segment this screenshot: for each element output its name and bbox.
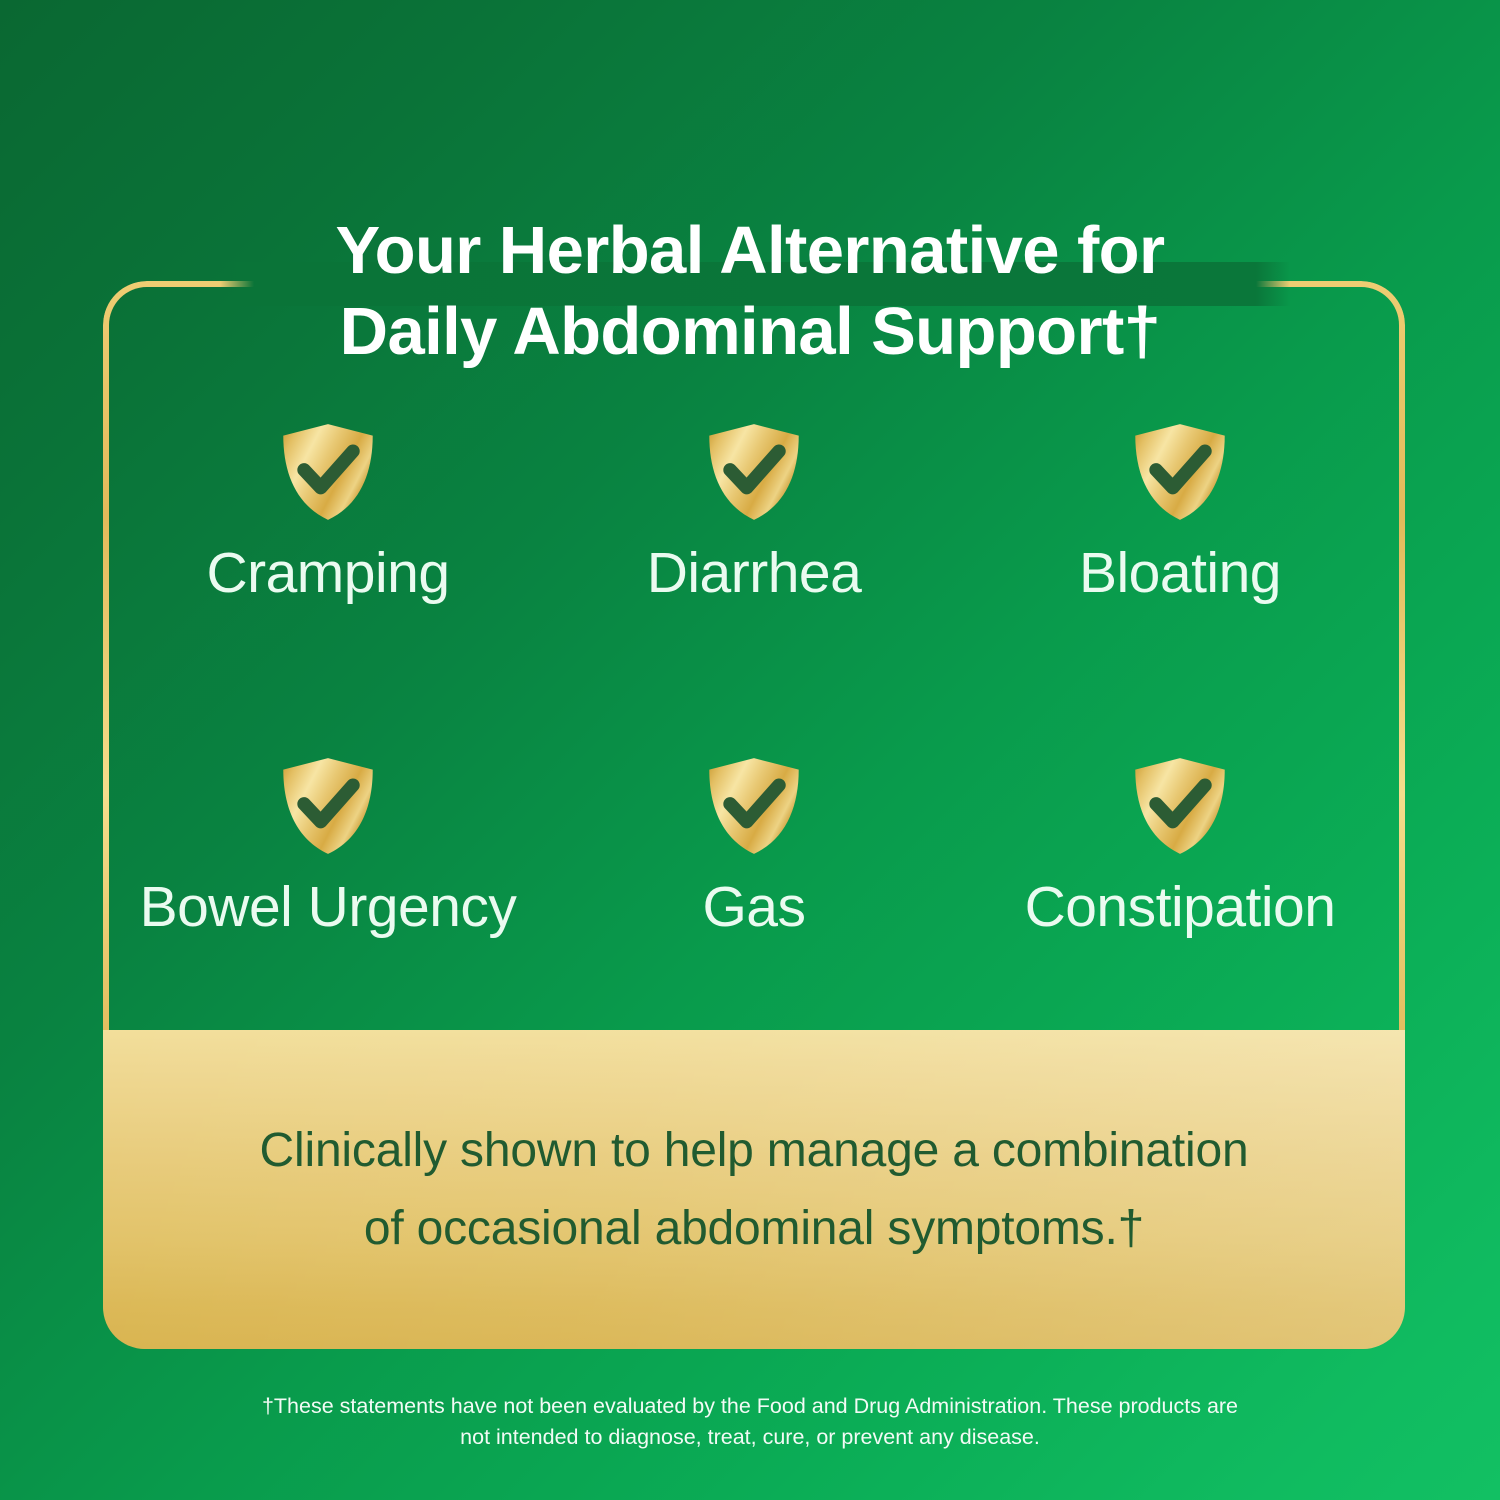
symptom-label: Cramping	[206, 544, 449, 604]
gold-shield-check-icon	[1128, 420, 1232, 524]
gold-shield-check-icon	[702, 754, 806, 858]
symptom-label: Constipation	[1025, 878, 1336, 938]
symptom-item-bloating: Bloating	[967, 420, 1393, 604]
gold-shield-check-icon	[702, 420, 806, 524]
symptom-label: Diarrhea	[647, 544, 862, 604]
clinical-claim-text: Clinically shown to help manage a combin…	[190, 1112, 1319, 1268]
promo-graphic-canvas: Your Herbal Alternative for Daily Abdomi…	[0, 0, 1500, 1500]
clinical-claim-banner: Clinically shown to help manage a combin…	[103, 1030, 1405, 1349]
fda-disclaimer-text: †These statements have not been evaluate…	[262, 1394, 1238, 1449]
symptom-label: Bloating	[1079, 544, 1281, 604]
page-title: Your Herbal Alternative for Daily Abdomi…	[0, 128, 1500, 373]
symptom-item-constipation: Constipation	[967, 754, 1393, 938]
gold-shield-check-icon	[276, 420, 380, 524]
symptom-item-gas: Gas	[541, 754, 967, 938]
page-title-text: Your Herbal Alternative for Daily Abdomi…	[336, 213, 1165, 370]
symptom-item-cramping: Cramping	[115, 420, 541, 604]
fda-disclaimer: †These statements have not been evaluate…	[250, 1391, 1250, 1453]
symptom-label: Bowel Urgency	[140, 878, 517, 938]
symptom-grid: Cramping Diarrhea Bloating	[115, 420, 1393, 938]
gold-shield-check-icon	[1128, 754, 1232, 858]
gold-shield-check-icon	[276, 754, 380, 858]
symptom-item-bowel-urgency: Bowel Urgency	[115, 754, 541, 938]
symptom-label: Gas	[702, 878, 805, 938]
symptom-item-diarrhea: Diarrhea	[541, 420, 967, 604]
